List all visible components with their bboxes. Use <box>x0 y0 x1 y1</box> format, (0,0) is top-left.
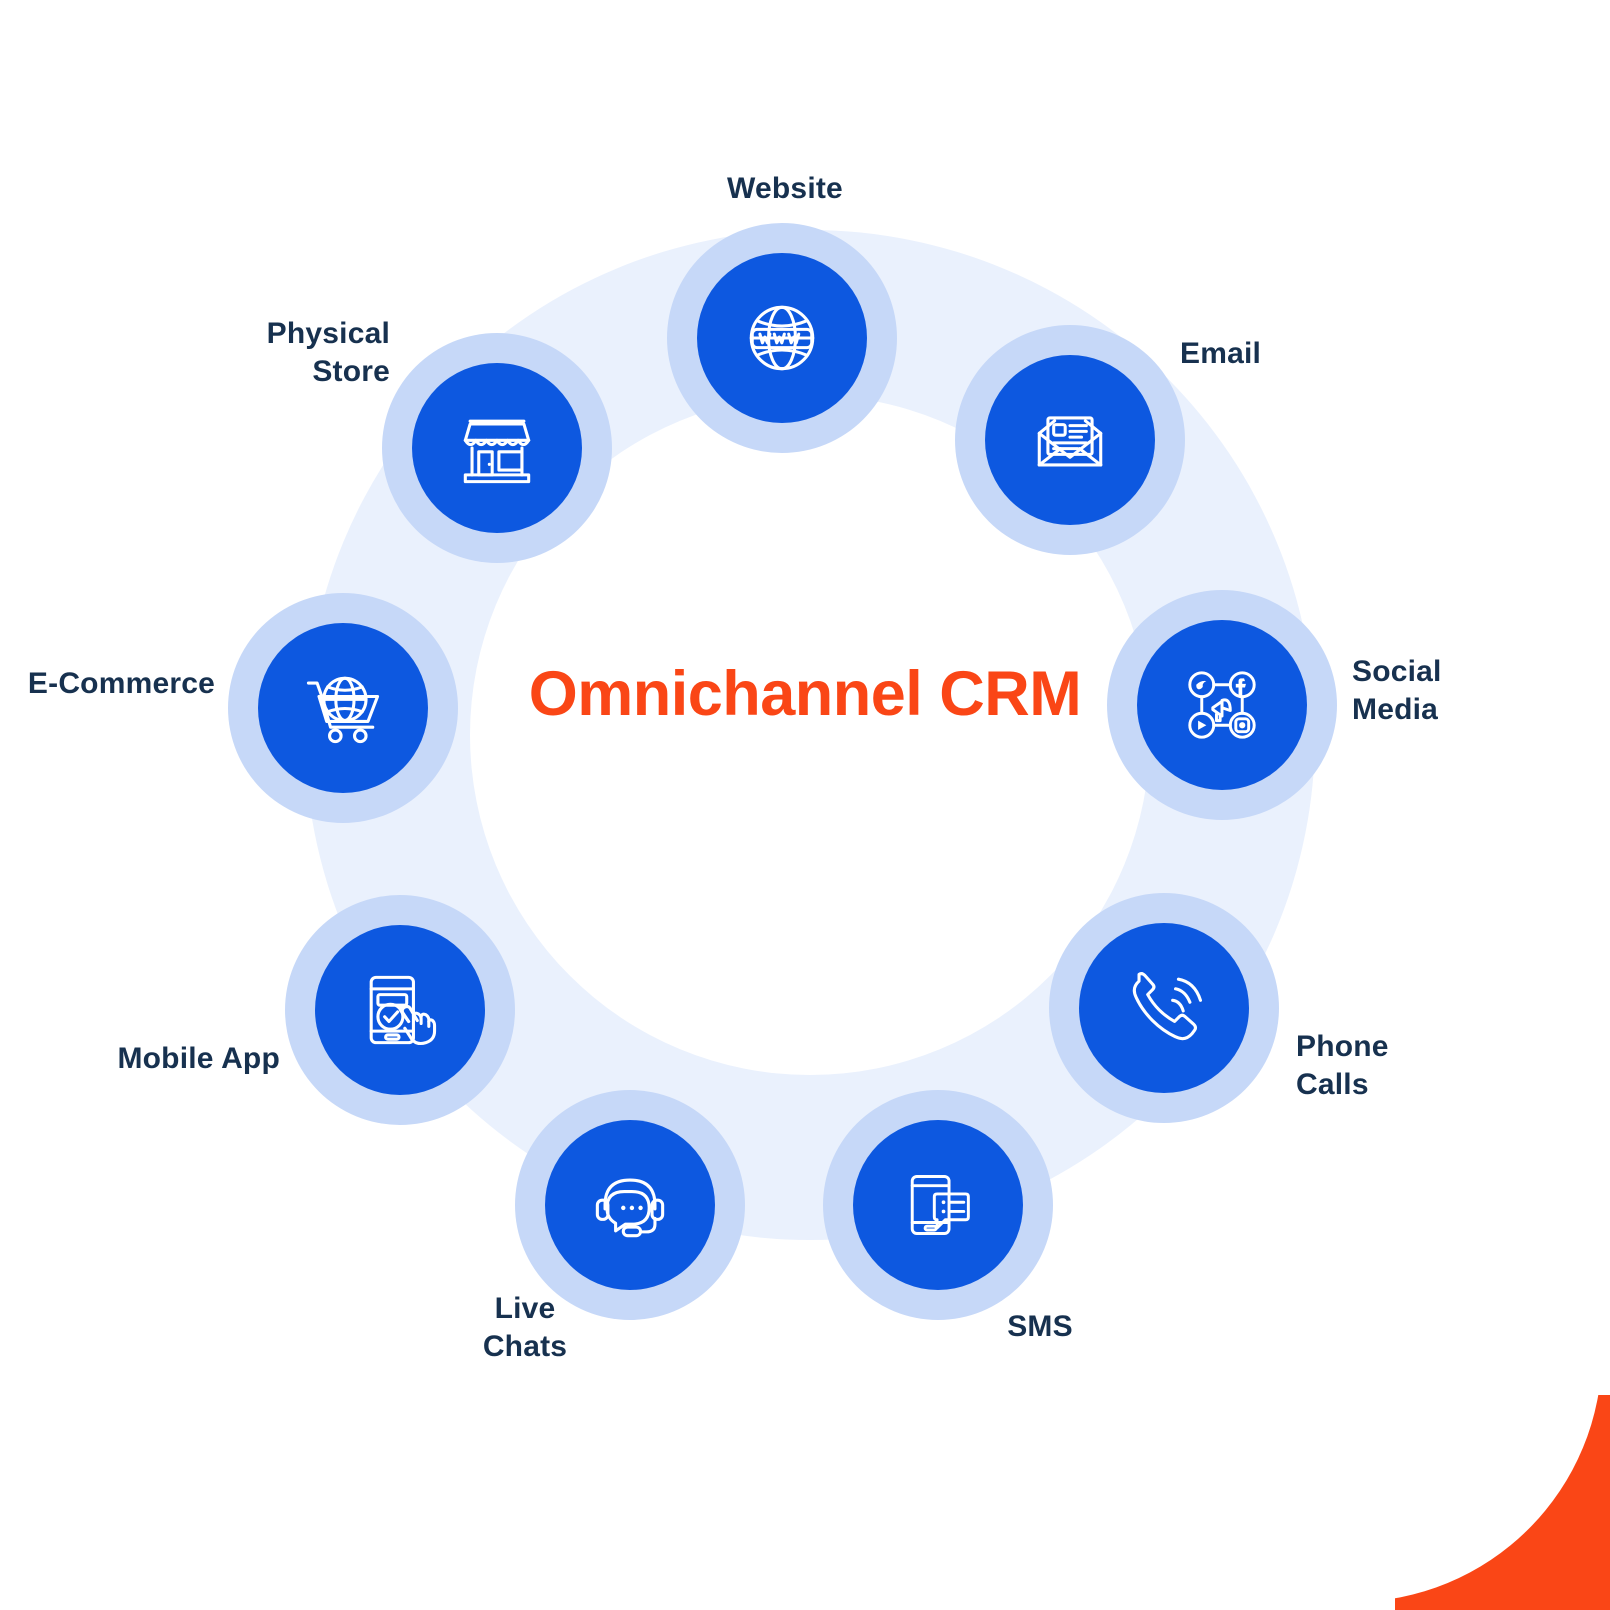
cart-globe-icon <box>258 623 428 793</box>
channel-label-social-media: Social Media <box>1352 653 1592 728</box>
channel-label-sms: SMS <box>940 1308 1140 1346</box>
channel-label-physical-store: Physical Store <box>190 315 390 390</box>
channel-label-email: Email <box>1180 335 1430 373</box>
channel-label-phone-calls: Phone Calls <box>1296 1028 1536 1103</box>
channel-label-live-chats: Live Chats <box>425 1290 625 1365</box>
headset-chat-icon <box>545 1120 715 1290</box>
storefront-icon <box>412 363 582 533</box>
channel-label-e-commerce: E-Commerce <box>10 665 215 703</box>
social-network-icon <box>1137 620 1307 790</box>
channel-node-phone-calls[interactable] <box>1049 893 1279 1123</box>
channel-node-email[interactable] <box>955 325 1185 555</box>
channel-node-mobile-app[interactable] <box>285 895 515 1125</box>
phone-call-icon <box>1079 923 1249 1093</box>
corner-accent-swoosh <box>1395 1395 1610 1610</box>
sms-message-icon <box>853 1120 1023 1290</box>
channel-node-physical-store[interactable] <box>382 333 612 563</box>
mobile-tap-icon <box>315 925 485 1095</box>
channel-label-mobile-app: Mobile App <box>40 1040 280 1078</box>
channel-label-website: Website <box>660 170 910 208</box>
channel-node-website[interactable] <box>667 223 897 453</box>
page-title: Omnichannel CRM <box>505 655 1105 734</box>
infographic-canvas: Omnichannel CRM <box>0 0 1610 1610</box>
channel-node-e-commerce[interactable] <box>228 593 458 823</box>
envelope-letter-icon <box>985 355 1155 525</box>
channel-node-social-media[interactable] <box>1107 590 1337 820</box>
globe-www-icon <box>697 253 867 423</box>
channel-node-sms[interactable] <box>823 1090 1053 1320</box>
channel-node-live-chats[interactable] <box>515 1090 745 1320</box>
